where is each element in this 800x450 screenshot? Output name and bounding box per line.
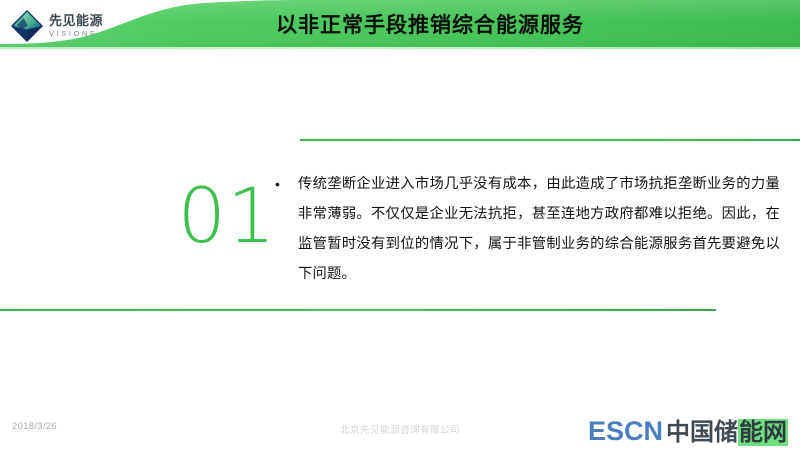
- bullet-marker: •: [272, 169, 298, 199]
- content-rule-top: [300, 139, 800, 141]
- logo-name-en: VISIONE: [49, 30, 103, 38]
- watermark-cn-plain: 中国储: [666, 419, 738, 446]
- watermark-red-accent-icon: [618, 415, 631, 423]
- body-paragraph: 传统垄断企业进入市场几乎没有成本，由此造成了市场抗拒垄断业务的力量非常薄弱。不仅…: [298, 169, 780, 289]
- watermark-brand: ESCN: [588, 416, 663, 447]
- logo-text-block: 先见能源 VISIONE: [49, 14, 103, 38]
- watermark-cn-highlight: 能网: [738, 419, 788, 446]
- diamond-gem-logo-icon: [10, 9, 44, 43]
- page-title: 以非正常手段推销综合能源服务: [0, 0, 800, 47]
- content-rule-bottom: [0, 309, 716, 311]
- section-number: 01: [172, 178, 282, 254]
- slide-canvas: 以非正常手段推销综合能源服务: [0, 0, 800, 450]
- watermark-cn: 中国储能网: [666, 412, 788, 447]
- escn-watermark: ESCN 中国储能网: [588, 412, 788, 447]
- logo-name-cn: 先见能源: [49, 14, 103, 27]
- bullet-row: • 传统垄断企业进入市场几乎没有成本，由此造成了市场抗拒垄断业务的力量非常薄弱。…: [272, 169, 780, 289]
- brand-logo: 先见能源 VISIONE: [10, 9, 103, 43]
- content-body: • 传统垄断企业进入市场几乎没有成本，由此造成了市场抗拒垄断业务的力量非常薄弱。…: [272, 169, 780, 289]
